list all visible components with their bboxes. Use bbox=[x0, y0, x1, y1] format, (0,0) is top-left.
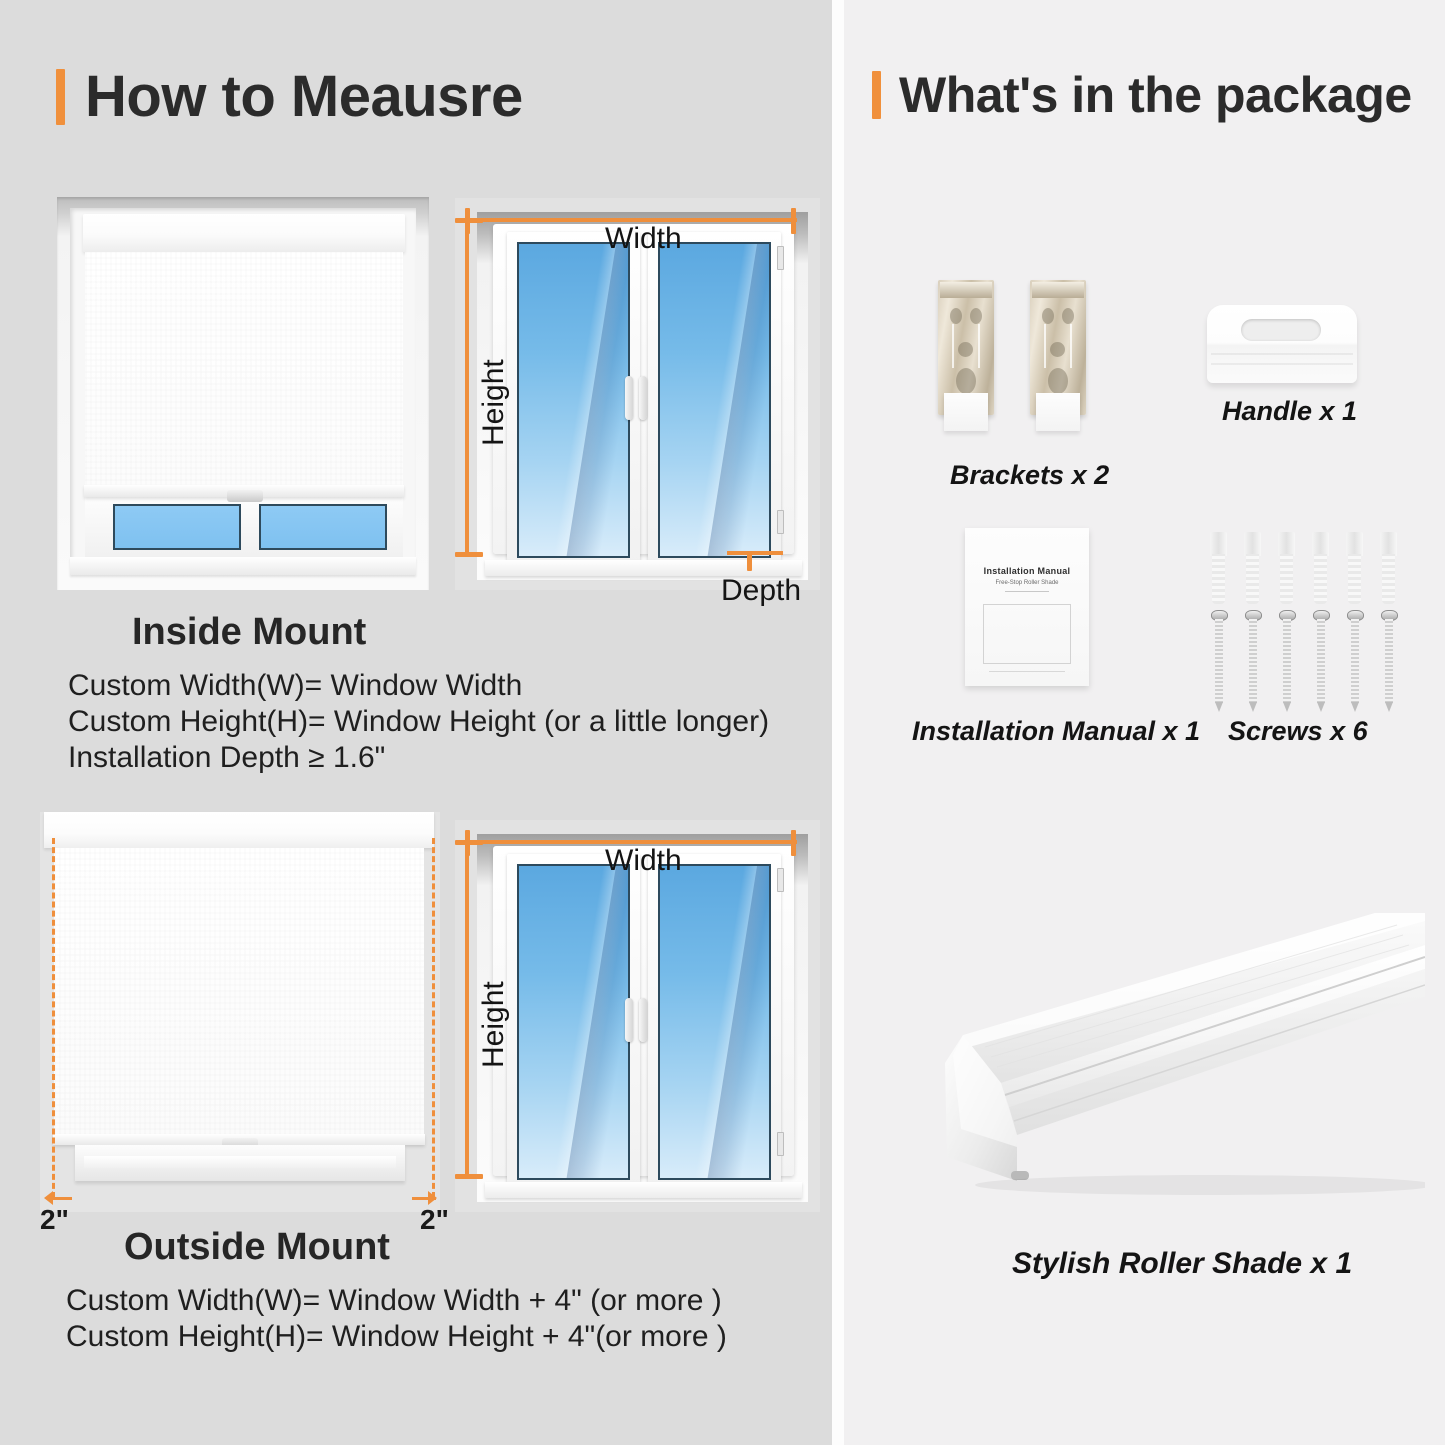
window-glass-left bbox=[517, 242, 630, 558]
window-handle-left bbox=[625, 376, 633, 420]
handle-label: Handle x 1 bbox=[1222, 396, 1357, 427]
height-measure-cap-bottom bbox=[455, 1174, 483, 1179]
panel-divider bbox=[832, 0, 844, 1445]
brackets-label: Brackets x 2 bbox=[950, 460, 1109, 491]
handle-icon bbox=[1207, 305, 1357, 383]
bracket-rib bbox=[952, 324, 954, 368]
wall-anchor-icon bbox=[1244, 532, 1261, 604]
label-width: Width bbox=[605, 222, 682, 256]
bracket-hole bbox=[970, 308, 982, 324]
width-measure-cap-left bbox=[465, 208, 470, 234]
bracket-slot bbox=[956, 368, 976, 394]
window-hinge-bottom bbox=[777, 510, 784, 534]
window-handle-right bbox=[639, 998, 647, 1042]
screw-icon bbox=[1211, 610, 1226, 712]
screw-icon bbox=[1279, 610, 1294, 712]
right-panel-heading: What's in the package bbox=[872, 70, 1412, 120]
wall-anchor-icon bbox=[1278, 532, 1295, 604]
right-heading-text: What's in the package bbox=[899, 70, 1412, 120]
screw-icon bbox=[1313, 610, 1328, 712]
overhang-label-left: 2" bbox=[40, 1204, 69, 1236]
shade-cassette bbox=[83, 214, 405, 252]
width-measure-cap-right bbox=[791, 830, 796, 856]
bracket-slot bbox=[1048, 368, 1068, 394]
window-pane-right bbox=[259, 504, 387, 550]
inside-mount-measure-diagram: Width Height Depth bbox=[455, 198, 820, 590]
handle-ridge bbox=[1211, 353, 1353, 355]
roller-shade-label: Stylish Roller Shade x 1 bbox=[1012, 1247, 1352, 1281]
roller-shade-svg bbox=[905, 885, 1425, 1205]
wall-anchor-icon bbox=[1380, 532, 1397, 604]
shade-pull-tab bbox=[227, 490, 263, 502]
handle-ridge bbox=[1211, 363, 1353, 365]
window-sash-left bbox=[507, 854, 640, 1190]
left-panel-heading: How to Meausre bbox=[56, 68, 523, 126]
bracket-hole bbox=[1050, 342, 1065, 357]
inside-mount-shade-illustration bbox=[57, 197, 429, 590]
width-measure-cap-left bbox=[465, 830, 470, 856]
label-height: Height bbox=[477, 981, 511, 1068]
screw-icon bbox=[1381, 610, 1396, 712]
wall-anchor-icon bbox=[1210, 532, 1227, 604]
bracket-foot bbox=[944, 393, 988, 431]
window-pane-left bbox=[113, 504, 241, 550]
window-sash-right bbox=[648, 854, 781, 1190]
screws-label: Screws x 6 bbox=[1228, 716, 1368, 747]
accent-bar-icon bbox=[872, 71, 881, 119]
outside-mount-measure-diagram: Width Height bbox=[455, 820, 820, 1212]
manual-cover-footer-rule bbox=[989, 671, 1065, 672]
inside-mount-line-1: Custom Height(H)= Window Height (or a li… bbox=[68, 705, 769, 739]
roller-shade-icon bbox=[905, 885, 1425, 1205]
bracket-hole bbox=[1062, 308, 1074, 324]
window-sill-bar bbox=[485, 1182, 802, 1198]
inside-mount-line-2: Installation Depth ≥ 1.6" bbox=[68, 741, 385, 775]
inside-mount-line-0: Custom Width(W)= Window Width bbox=[68, 669, 522, 703]
wall-anchor-icon bbox=[1346, 532, 1363, 604]
left-heading-text: How to Meausre bbox=[85, 68, 523, 126]
shade-cassette bbox=[44, 812, 434, 848]
infographic-page: How to Meausre bbox=[0, 0, 1445, 1445]
window-sash-right bbox=[648, 232, 781, 568]
overhang-label-right: 2" bbox=[420, 1204, 449, 1236]
outside-mount-shade-illustration bbox=[40, 812, 440, 1212]
overhang-arrowhead-left bbox=[44, 1191, 53, 1205]
outside-mount-title: Outside Mount bbox=[124, 1226, 390, 1269]
manual-cover-subtitle: Free-Stop Roller Shade bbox=[965, 580, 1089, 586]
bracket-rib bbox=[978, 324, 980, 368]
window-sill bbox=[70, 557, 416, 575]
bracket-hole bbox=[950, 308, 962, 324]
window-sash-left bbox=[507, 232, 640, 568]
window-glass-left bbox=[517, 864, 630, 1180]
bracket-hole bbox=[958, 342, 973, 357]
window-hinge-bottom bbox=[777, 1132, 784, 1156]
window-glass-right bbox=[658, 864, 771, 1180]
window-handle-right bbox=[639, 376, 647, 420]
overhang-guide-left bbox=[52, 838, 55, 1198]
screw-icon bbox=[1347, 610, 1362, 712]
outside-mount-line-1: Custom Height(H)= Window Height + 4"(or … bbox=[66, 1320, 727, 1354]
label-height: Height bbox=[477, 359, 511, 446]
window-hinge-top bbox=[777, 868, 784, 892]
bracket-rib bbox=[1044, 324, 1046, 368]
manual-label: Installation Manual x 1 bbox=[912, 716, 1200, 747]
window-sill-lip bbox=[84, 1156, 396, 1168]
bracket-icon bbox=[1030, 280, 1086, 415]
manual-cover-title: Installation Manual bbox=[965, 566, 1089, 576]
height-measure-line bbox=[465, 220, 469, 556]
label-depth: Depth bbox=[721, 574, 801, 608]
outside-mount-line-0: Custom Width(W)= Window Width + 4" (or m… bbox=[66, 1284, 722, 1318]
window-handle-left bbox=[625, 998, 633, 1042]
manual-cover-figure bbox=[983, 604, 1071, 664]
window-glass-right bbox=[658, 242, 771, 558]
window-hinge-top bbox=[777, 246, 784, 270]
manual-cover-rule bbox=[1005, 591, 1049, 592]
wall-anchor-icon bbox=[1312, 532, 1329, 604]
height-measure-cap-bottom bbox=[455, 552, 483, 557]
overhang-arrowhead-right bbox=[428, 1191, 437, 1205]
height-measure-line bbox=[465, 842, 469, 1178]
bracket-top-flange bbox=[940, 282, 992, 298]
depth-measure-cap bbox=[747, 551, 752, 571]
accent-bar-icon bbox=[56, 69, 65, 125]
bracket-foot bbox=[1036, 393, 1080, 431]
inside-mount-title: Inside Mount bbox=[132, 611, 366, 654]
manual-icon: Installation Manual Free-Stop Roller Sha… bbox=[965, 528, 1089, 686]
overhang-guide-right bbox=[432, 838, 435, 1198]
bracket-top-flange bbox=[1032, 282, 1084, 298]
shade-fabric bbox=[54, 848, 424, 1136]
bracket-hole bbox=[1042, 308, 1054, 324]
handle-grip-hole bbox=[1241, 319, 1321, 341]
bracket-rib bbox=[1070, 324, 1072, 368]
label-width: Width bbox=[605, 844, 682, 878]
shade-fabric bbox=[85, 252, 403, 487]
screw-icon bbox=[1245, 610, 1260, 712]
width-measure-cap-right bbox=[791, 208, 796, 234]
bracket-icon bbox=[938, 280, 994, 415]
depth-measure-line bbox=[727, 551, 783, 555]
